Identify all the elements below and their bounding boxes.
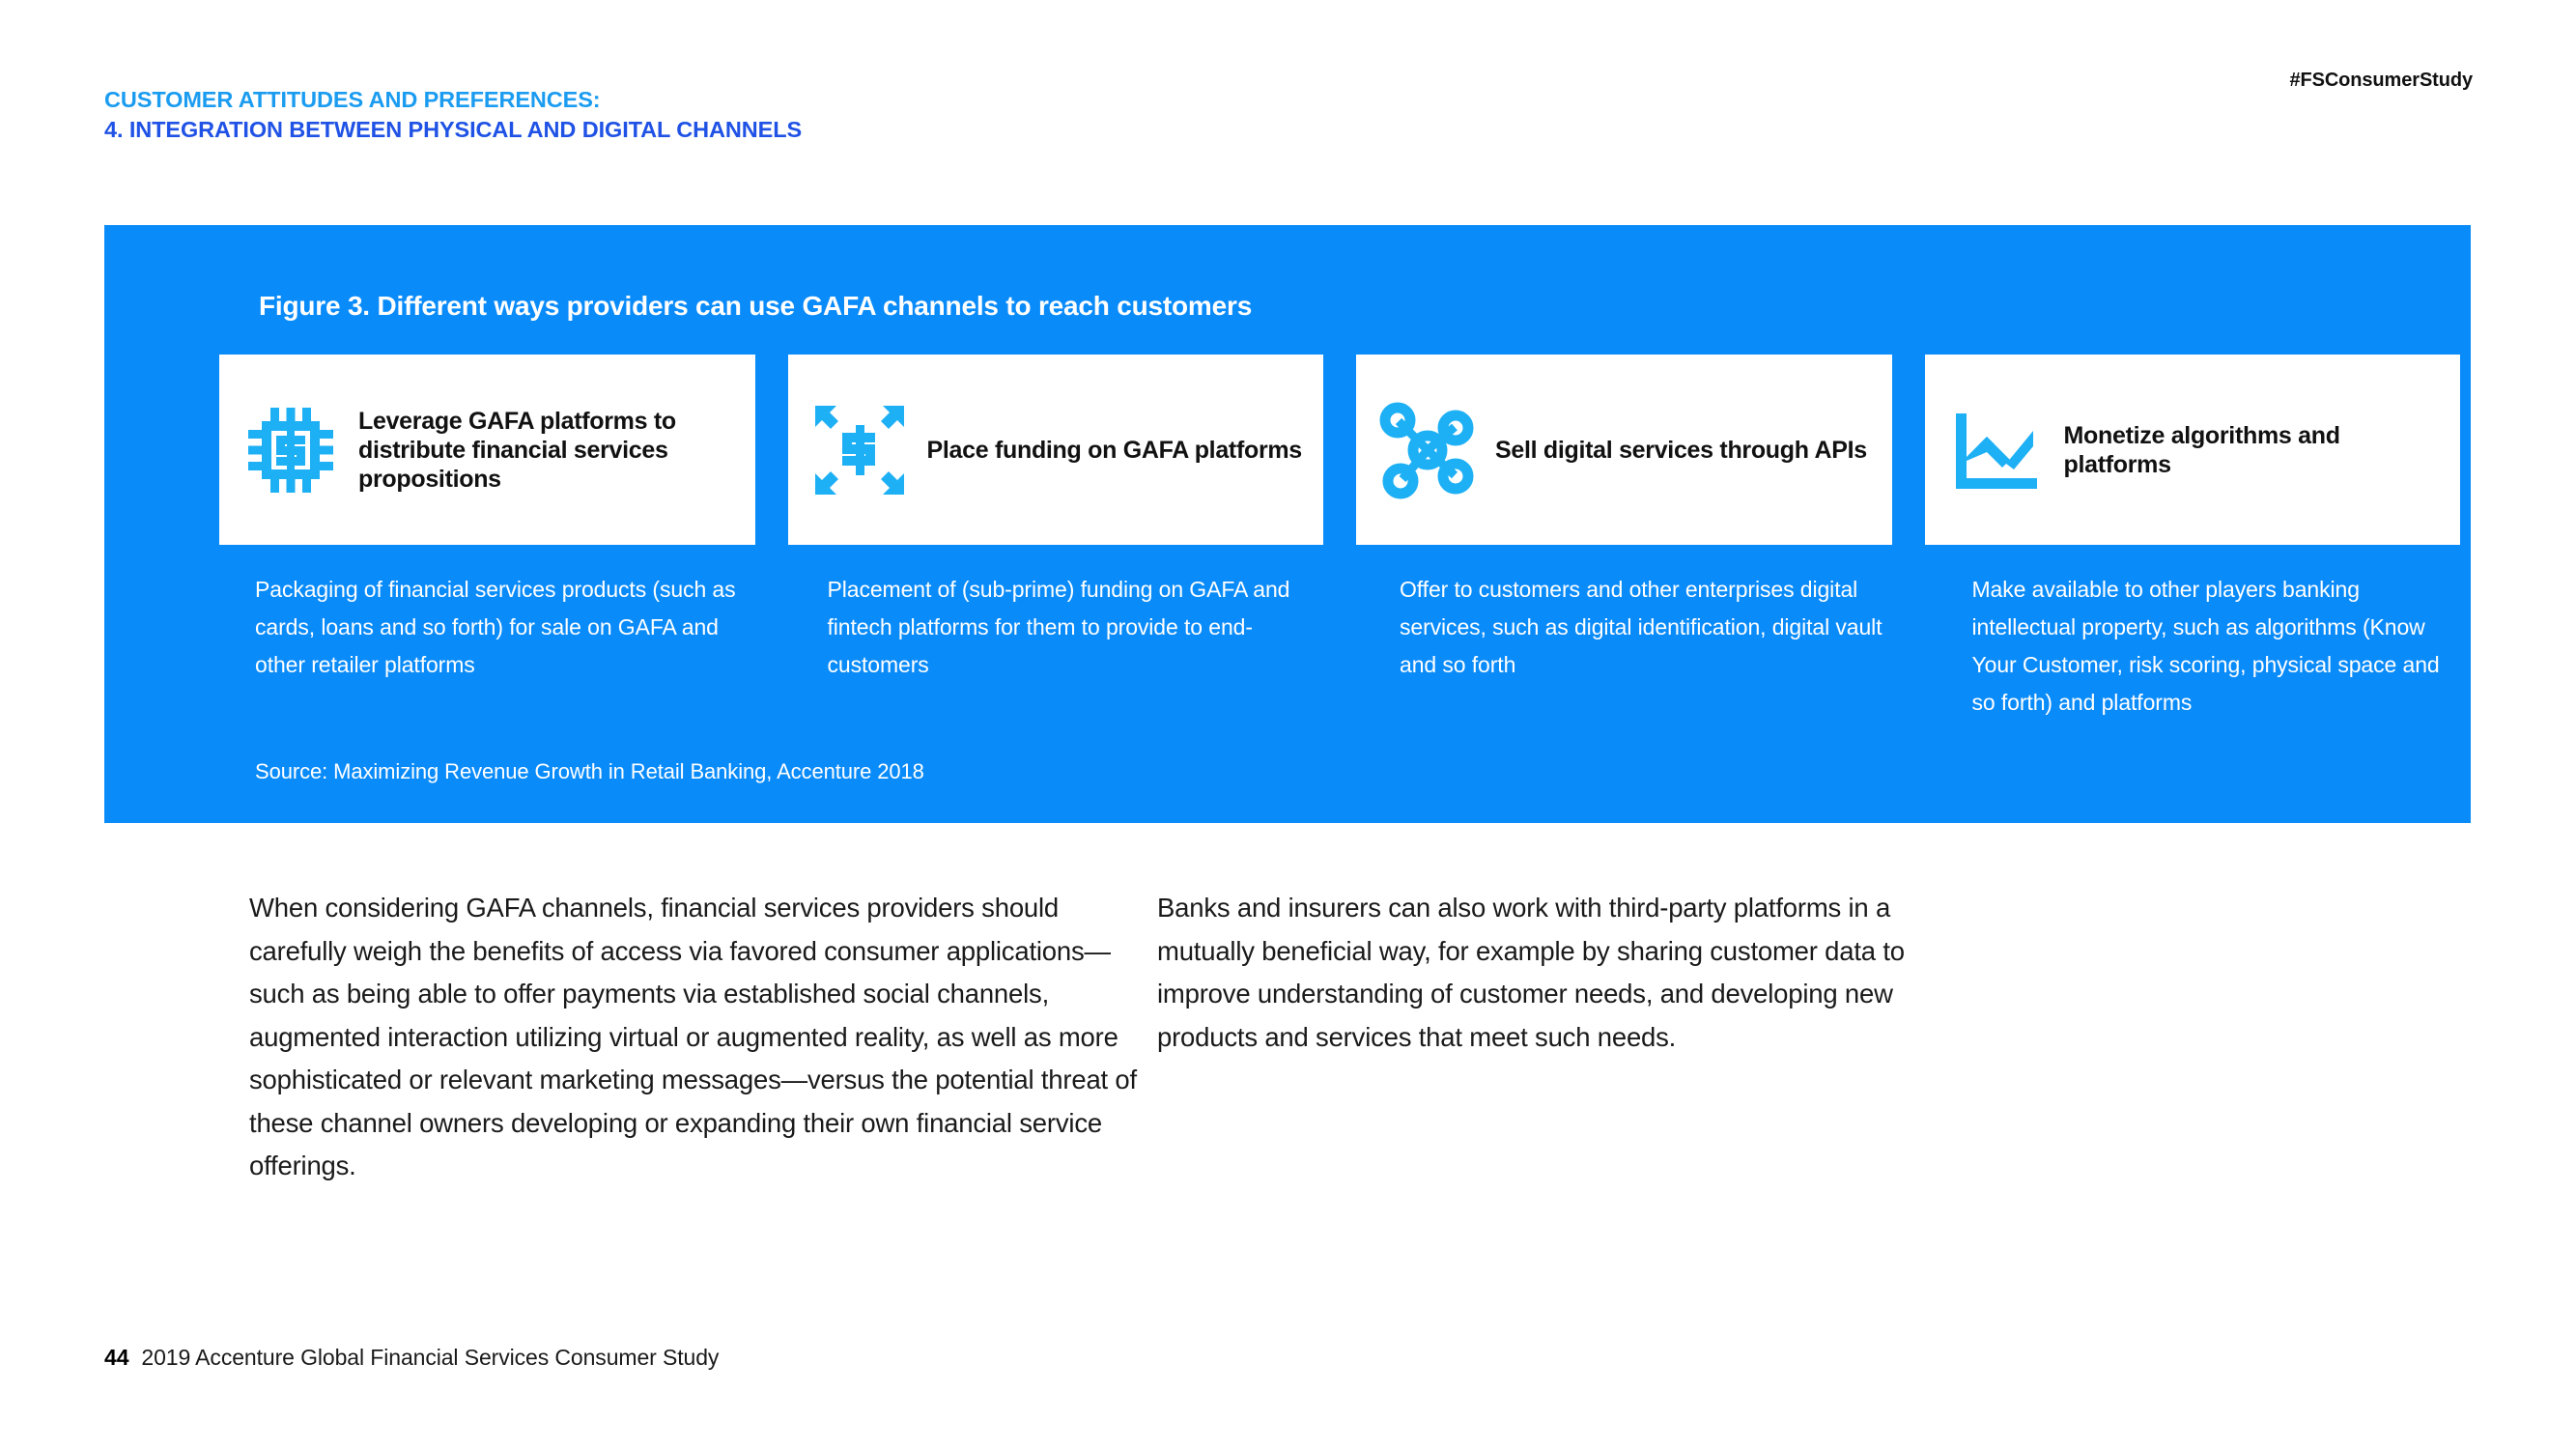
kicker-line-2: 4. INTEGRATION BETWEEN PHYSICAL AND DIGI…	[104, 115, 802, 145]
figure-card: Monetize algorithms and platforms	[1925, 355, 2461, 545]
page-kicker: CUSTOMER ATTITUDES AND PREFERENCES: 4. I…	[104, 85, 802, 144]
figure-card: Leverage GAFA platforms to distribute fi…	[219, 355, 755, 545]
page-number: 44	[104, 1345, 128, 1371]
line-chart-icon	[1942, 396, 2051, 504]
figure-caption: Make available to other players banking …	[1937, 571, 2461, 722]
figure-card-title: Place funding on GAFA platforms	[927, 436, 1302, 465]
figure-title: Figure 3. Different ways providers can u…	[259, 291, 1252, 322]
body-paragraph-left: When considering GAFA channels, financia…	[249, 887, 1138, 1188]
chip-dollar-icon	[237, 396, 345, 504]
figure-card: Place funding on GAFA platforms	[788, 355, 1324, 545]
figure-card: Sell digital services through APIs	[1356, 355, 1892, 545]
network-nodes-icon	[1373, 396, 1482, 504]
figure-card-title: Monetize algorithms and platforms	[2064, 421, 2448, 479]
hashtag-label: #FSConsumerStudy	[2289, 70, 2473, 92]
footer-document-title: 2019 Accenture Global Financial Services…	[141, 1345, 719, 1371]
document-page: CUSTOMER ATTITUDES AND PREFERENCES: 4. I…	[0, 0, 2576, 1449]
figure-caption: Offer to customers and other enterprises…	[1364, 571, 1904, 722]
figure-source: Source: Maximizing Revenue Growth in Ret…	[255, 759, 924, 784]
figure-caption-row: Packaging of financial services products…	[219, 571, 2460, 722]
figure-caption: Placement of (sub-prime) funding on GAFA…	[792, 571, 1332, 722]
body-paragraph-right: Banks and insurers can also work with th…	[1157, 887, 1959, 1059]
figure-card-title: Sell digital services through APIs	[1495, 436, 1867, 465]
figure-panel: Figure 3. Different ways providers can u…	[104, 225, 2471, 823]
figure-card-title: Leverage GAFA platforms to distribute fi…	[358, 407, 742, 494]
page-footer: 44 2019 Accenture Global Financial Servi…	[104, 1345, 719, 1371]
figure-caption: Packaging of financial services products…	[219, 571, 759, 722]
kicker-line-1: CUSTOMER ATTITUDES AND PREFERENCES:	[104, 85, 802, 115]
dollar-expand-arrows-icon	[806, 396, 914, 504]
figure-card-row: Leverage GAFA platforms to distribute fi…	[219, 355, 2460, 545]
